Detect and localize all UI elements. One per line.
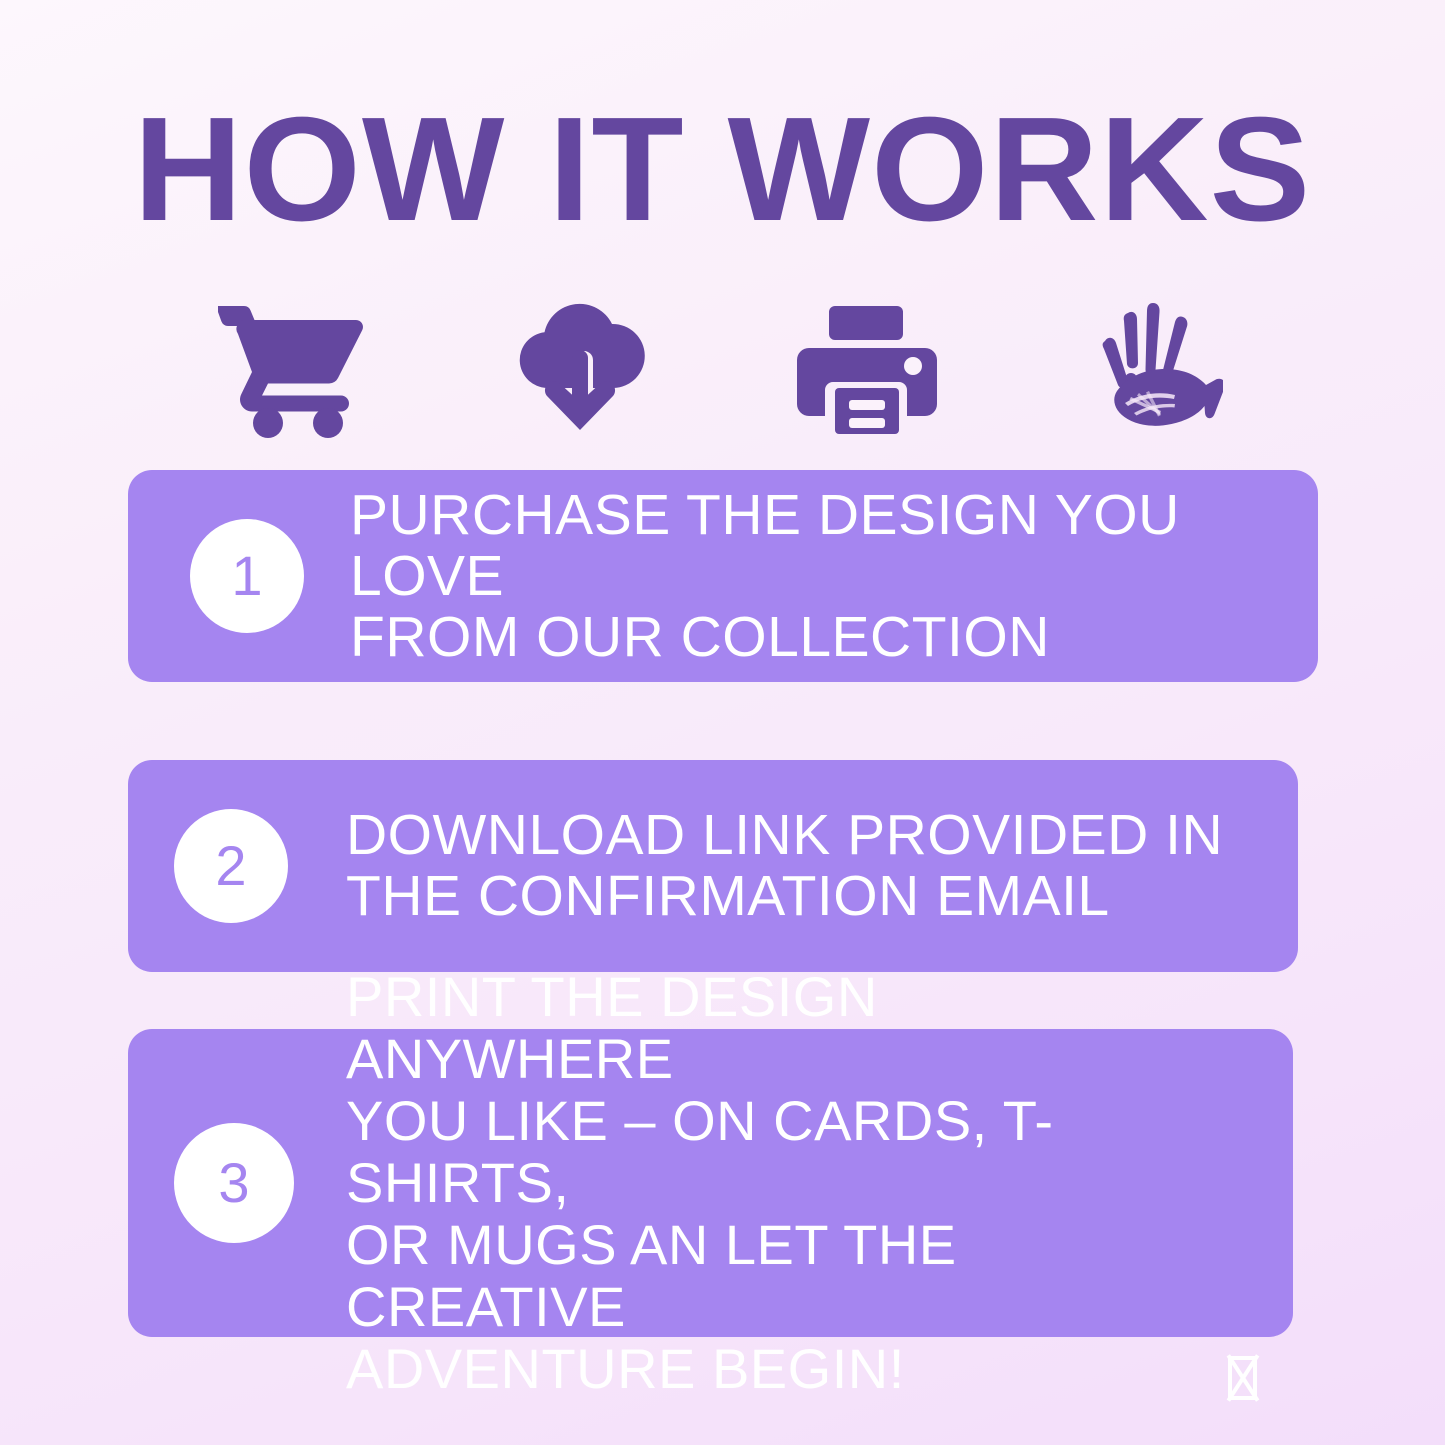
missing-glyph-box-icon: [1228, 1356, 1257, 1400]
step-text-wrap: PRINT THE DESIGN ANYWHERE YOU LIKE – ON …: [294, 966, 1257, 1400]
step-text: DOWNLOAD LINK PROVIDED IN THE CONFIRMATI…: [346, 805, 1223, 927]
step-number-badge: 3: [174, 1123, 294, 1243]
title-container: HOW IT WORKS: [0, 96, 1445, 244]
step-text: PURCHASE THE DESIGN YOU LOVE FROM OUR CO…: [350, 485, 1282, 668]
step-card-2: 2 DOWNLOAD LINK PROVIDED IN THE CONFIRMA…: [128, 760, 1298, 972]
step-text: PRINT THE DESIGN ANYWHERE YOU LIKE – ON …: [346, 966, 1216, 1400]
printer-icon: [787, 290, 947, 450]
handprint-icon: [1075, 290, 1235, 450]
step-card-3: 3 PRINT THE DESIGN ANYWHERE YOU LIKE – O…: [128, 1029, 1293, 1337]
step-number-badge: 2: [174, 809, 288, 923]
steps-list: 1 PURCHASE THE DESIGN YOU LOVE FROM OUR …: [128, 470, 1318, 1337]
cloud-download-icon: [499, 290, 659, 450]
step-card-1: 1 PURCHASE THE DESIGN YOU LOVE FROM OUR …: [128, 470, 1318, 682]
shopping-cart-icon: [211, 290, 371, 450]
step-number-badge: 1: [190, 519, 304, 633]
how-it-works-poster: HOW IT WORKS: [0, 0, 1445, 1445]
page-title: HOW IT WORKS: [134, 96, 1312, 244]
icon-row: [0, 290, 1445, 450]
